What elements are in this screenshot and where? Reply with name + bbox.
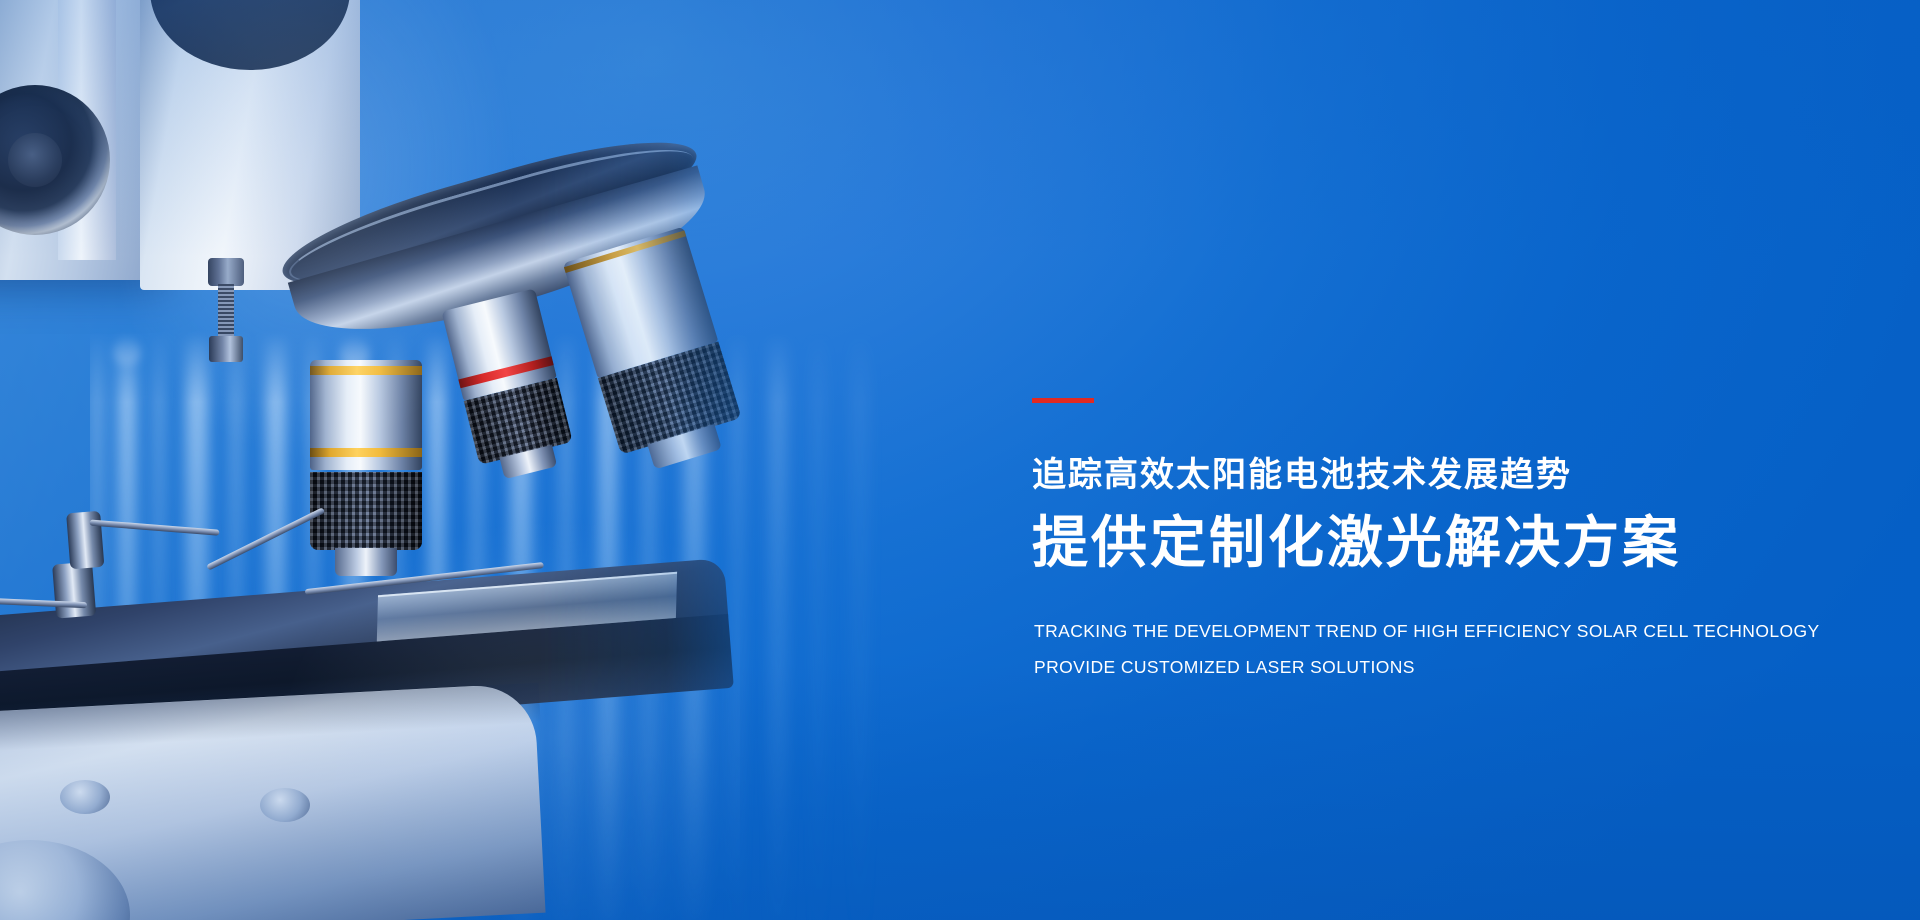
- banner-content: 追踪高效太阳能电池技术发展趋势 提供定制化激光解决方案 TRACKING THE…: [1032, 0, 1832, 920]
- english-subtitle-line-2: PROVIDE CUSTOMIZED LASER SOLUTIONS: [1034, 649, 1820, 685]
- hero-banner: 追踪高效太阳能电池技术发展趋势 提供定制化激光解决方案 TRACKING THE…: [0, 0, 1920, 920]
- banner-subheadline: 追踪高效太阳能电池技术发展趋势: [1032, 458, 1572, 492]
- english-subtitle-line-1: TRACKING THE DEVELOPMENT TREND OF HIGH E…: [1034, 613, 1820, 649]
- banner-english-subtitle: TRACKING THE DEVELOPMENT TREND OF HIGH E…: [1034, 613, 1820, 685]
- banner-headline: 提供定制化激光解决方案: [1032, 515, 1681, 571]
- accent-rule: [1032, 398, 1094, 403]
